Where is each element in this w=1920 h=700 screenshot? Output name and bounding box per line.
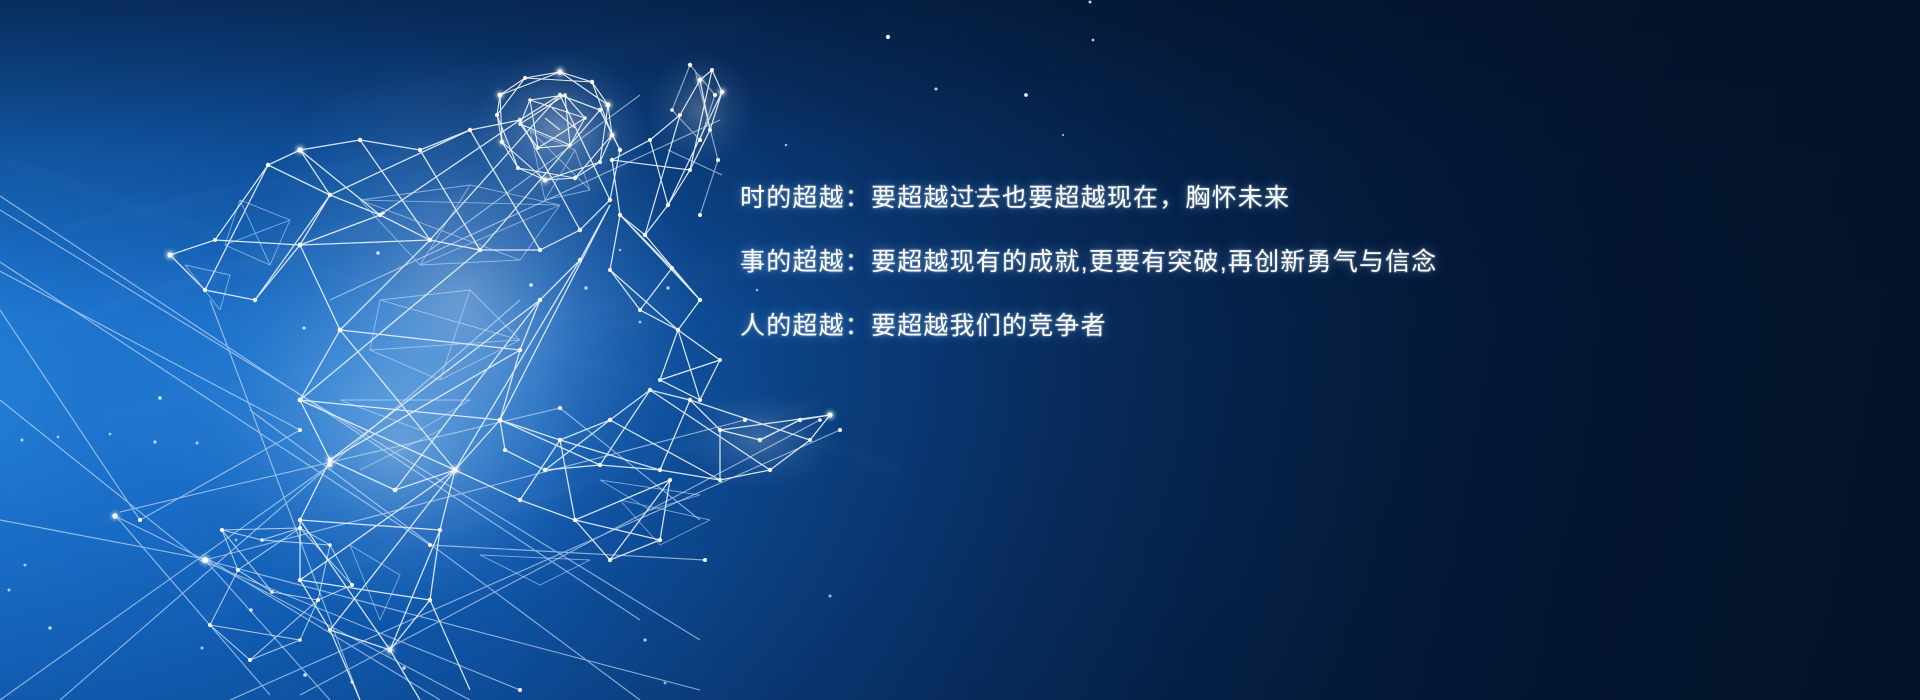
slogan-line-3: 人的超越：要超越我们的竞争者: [740, 314, 1500, 339]
network-artwork: [0, 0, 1920, 700]
slogan-line-1: 时的超越：要超越过去也要超越现在，胸怀未来: [740, 186, 1500, 211]
slogan-text-block: 时的超越：要超越过去也要超越现在，胸怀未来 事的超越：要超越现有的成就,更要有突…: [740, 186, 1500, 339]
hero-banner: 时的超越：要超越过去也要超越现在，胸怀未来 事的超越：要超越现有的成就,更要有突…: [0, 0, 1920, 700]
slogan-line-2: 事的超越：要超越现有的成就,更要有突破,再创新勇气与信念: [740, 250, 1500, 275]
